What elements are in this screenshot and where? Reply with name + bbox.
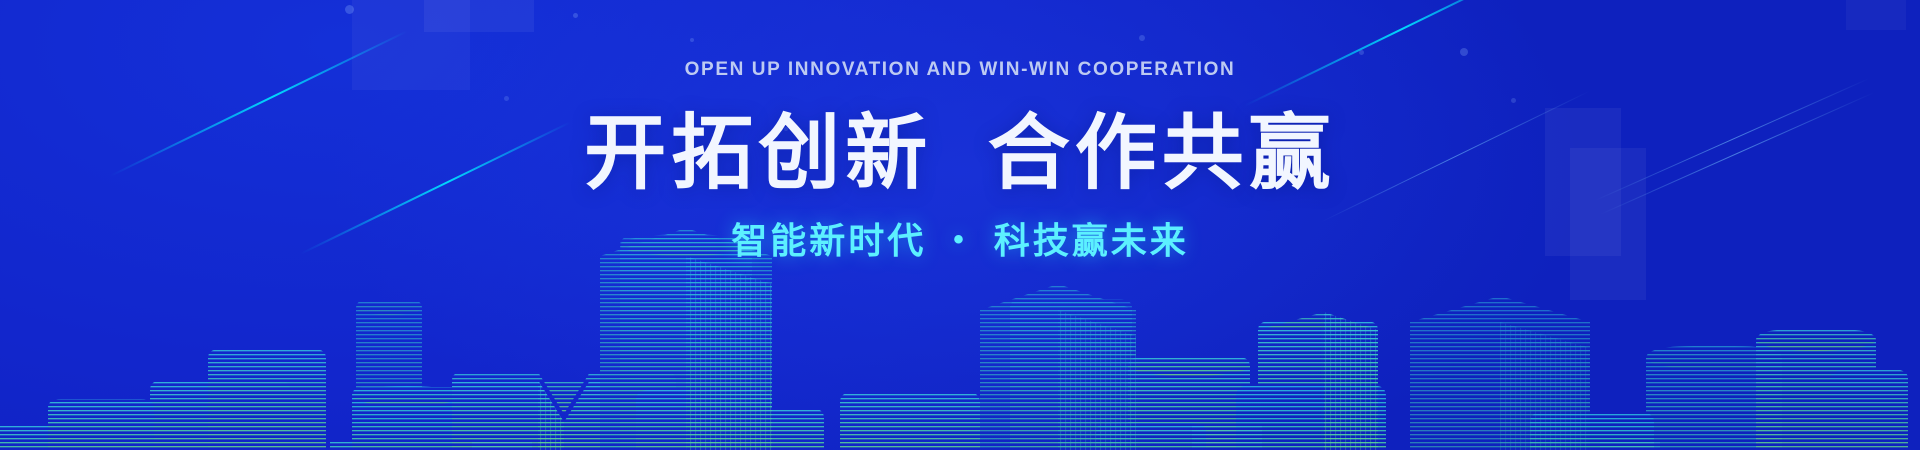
banner-subtitle: 智能新时代 • 科技赢未来: [0, 223, 1920, 259]
banner-eyebrow-text: OPEN UP INNOVATION AND WIN-WIN COOPERATI…: [0, 60, 1920, 79]
banner-subtitle-left: 智能新时代: [731, 220, 926, 261]
banner-subtitle-right: 科技赢未来: [994, 220, 1189, 261]
hero-banner: OPEN UP INNOVATION AND WIN-WIN COOPERATI…: [0, 0, 1920, 450]
bullet-separator-icon: •: [939, 223, 981, 256]
banner-copy: OPEN UP INNOVATION AND WIN-WIN COOPERATI…: [0, 0, 1920, 259]
banner-headline: 开拓创新 合作共赢: [0, 111, 1920, 197]
